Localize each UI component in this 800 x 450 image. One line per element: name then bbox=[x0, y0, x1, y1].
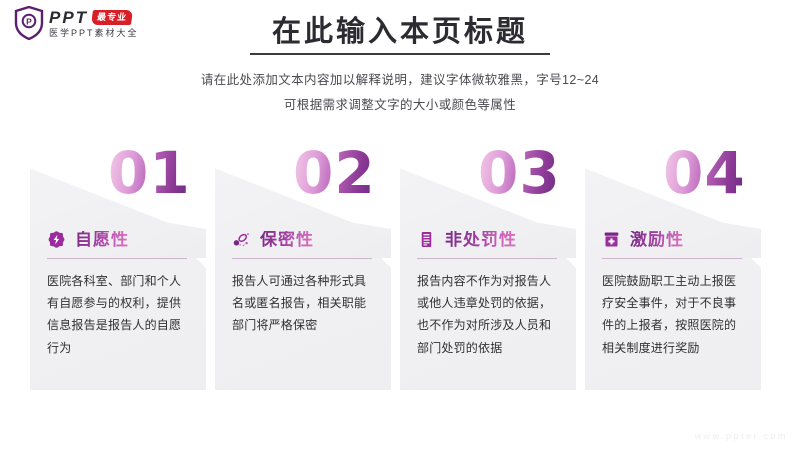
feature-card[interactable]: 02 保密性 报告人可通过各种形式具名或匿名报告，相关职能部门将严格 bbox=[215, 146, 391, 390]
card-description: 报告人可通过各种形式具名或匿名报告，相关职能部门将严格保密 bbox=[232, 270, 376, 337]
slide-canvas: P PPT 最专业 医学PPT素材大全 在此输入本页标题 请在此处添加文本内容加… bbox=[0, 0, 800, 450]
medicine-box-icon bbox=[602, 230, 621, 249]
subtitle-line-2: 可根据需求调整文字的大小或颜色等属性 bbox=[0, 93, 800, 117]
atom-molecule-icon bbox=[232, 230, 251, 249]
subtitle-line-1: 请在此处添加文本内容加以解释说明，建议字体微软雅黑，字号12~24 bbox=[0, 68, 800, 92]
page-title: 在此输入本页标题 bbox=[0, 14, 800, 50]
flower-bolt-icon bbox=[47, 230, 66, 249]
feature-card[interactable]: 01 自愿性 医院各科室、部门和个人有自愿参与的权利，提供信息报告是报告人的自愿… bbox=[30, 146, 206, 390]
site-watermark: www.ppter.com bbox=[694, 431, 788, 441]
card-description: 报告内容不作为对报告人或他人违章处罚的依据，也不作为对所涉及人员和部门处罚的依据 bbox=[417, 270, 561, 359]
card-divider bbox=[47, 258, 187, 259]
card-divider bbox=[602, 258, 742, 259]
card-title: 非处罚性 bbox=[445, 231, 517, 248]
slide-header: 在此输入本页标题 请在此处添加文本内容加以解释说明，建议字体微软雅黑，字号12~… bbox=[0, 14, 800, 117]
page-subtitle: 请在此处添加文本内容加以解释说明，建议字体微软雅黑，字号12~24 可根据需求调… bbox=[0, 68, 800, 117]
card-title: 自愿性 bbox=[75, 231, 129, 248]
card-title: 激励性 bbox=[630, 231, 684, 248]
card-divider bbox=[417, 258, 557, 259]
card-description: 医院鼓励职工主动上报医疗安全事件，对于不良事件的上报者，按照医院的相关制度进行奖… bbox=[602, 270, 746, 359]
title-underline bbox=[250, 53, 550, 55]
card-description: 医院各科室、部门和个人有自愿参与的权利，提供信息报告是报告人的自愿行为 bbox=[47, 270, 191, 359]
card-divider bbox=[232, 258, 372, 259]
feature-card[interactable]: 04 激励性 医院鼓励职工主动上报医疗安全事件，对于不良事件的上报者，按照医院的… bbox=[585, 146, 761, 390]
document-list-icon bbox=[417, 230, 436, 249]
feature-card[interactable]: 03 非处罚性 报告内容不作为对报告人或他人违章处罚的依据，也不作为 bbox=[400, 146, 576, 390]
card-title: 保密性 bbox=[260, 231, 314, 248]
feature-card-row: 01 自愿性 医院各科室、部门和个人有自愿参与的权利，提供信息报告是报告人的自愿… bbox=[30, 146, 770, 390]
